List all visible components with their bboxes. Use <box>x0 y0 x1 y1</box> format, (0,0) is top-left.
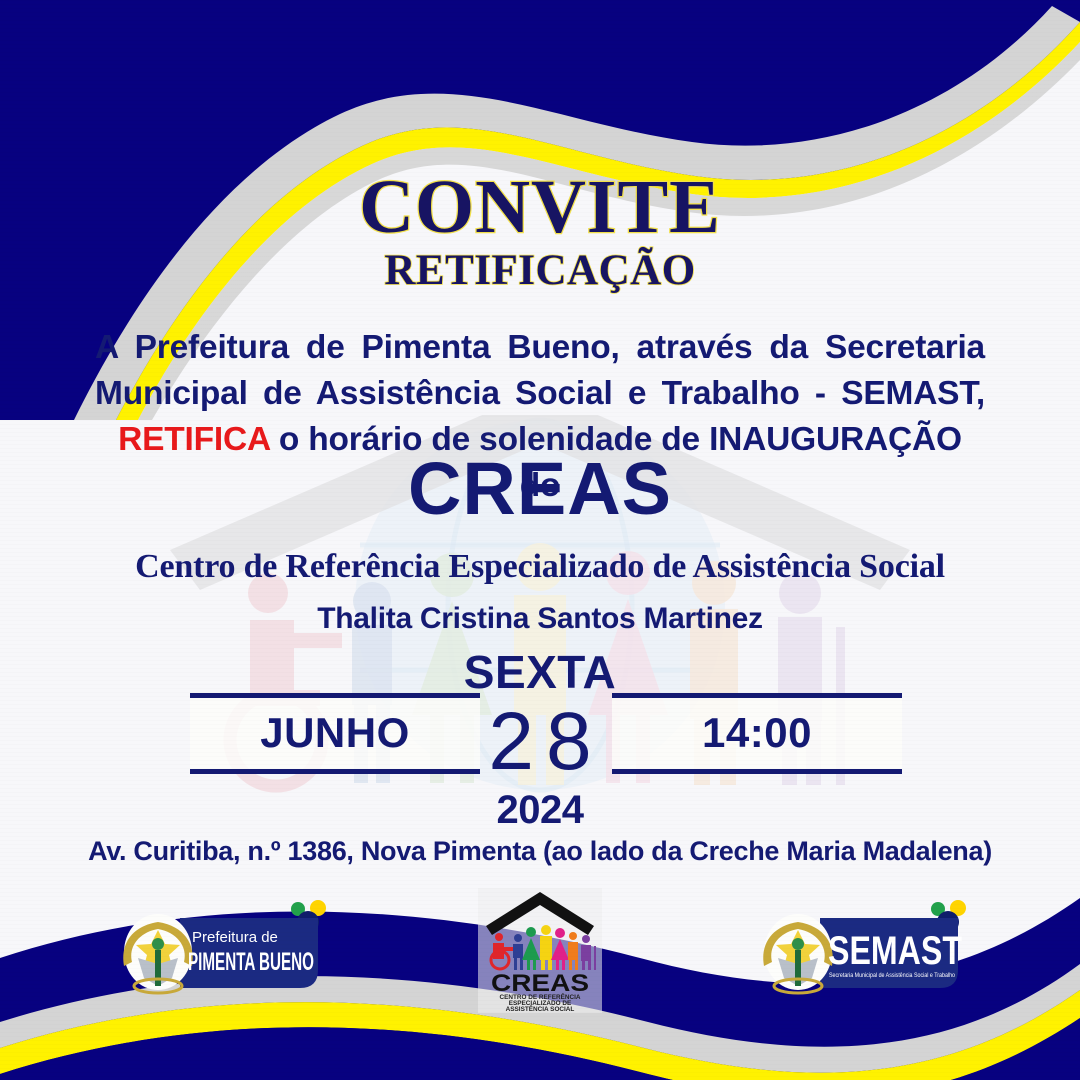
event-time: 14:00 <box>612 698 902 769</box>
title-block: CONVITE RETIFICAÇÃO <box>0 170 1080 294</box>
time-rule-bottom <box>612 769 902 774</box>
institution-full-name: Centro de Referência Especializado de As… <box>0 548 1080 586</box>
logo-prefeitura-pimenta-bueno: Prefeitura de PIMENTA BUENO <box>122 900 337 1000</box>
event-day: 28 <box>0 697 1080 787</box>
event-month: JUNHO <box>190 698 480 769</box>
event-time-slot: 14:00 <box>612 693 902 774</box>
event-year: 2024 <box>0 788 1080 833</box>
logo-creas-acronym: CREAS <box>491 970 589 997</box>
page-title: CONVITE <box>0 170 1080 244</box>
event-month-slot: JUNHO <box>190 693 480 774</box>
logo-creas-caption3: ASSISTÊNCIA SOCIAL <box>506 1004 575 1013</box>
logo-semast-line2: Secretaria Municipal de Assistência Soci… <box>829 972 955 979</box>
logo-semast-line1: SEMAST <box>828 929 962 973</box>
announcement-line-1: A Prefeitura de Pimenta Bueno, através d… <box>95 325 985 371</box>
institution-acronym: CREAS <box>0 452 1080 526</box>
event-date-block: SEXTA 28 2024 JUNHO 14:00 <box>0 645 1080 835</box>
announcement-line-2: Municipal de Assistência Social e Trabal… <box>95 371 985 417</box>
poster-content: CONVITE RETIFICAÇÃO A Prefeitura de Pime… <box>0 0 1080 1080</box>
logo-semast: SEMAST Secretaria Municipal de Assistênc… <box>762 900 977 1000</box>
page-subtitle: RETIFICAÇÃO <box>0 248 1080 293</box>
logo-prefeitura-line2: PIMENTA BUENO <box>188 948 314 976</box>
month-rule-bottom <box>190 769 480 774</box>
institution-person-name: Thalita Cristina Santos Martinez <box>0 602 1080 636</box>
logo-row: Prefeitura de PIMENTA BUENO <box>0 888 1080 1018</box>
event-address: Av. Curitiba, n.º 1386, Nova Pimenta (ao… <box>0 836 1080 867</box>
invitation-poster: CONVITE RETIFICAÇÃO A Prefeitura de Pime… <box>0 0 1080 1080</box>
logo-prefeitura-line1: Prefeitura de <box>192 929 278 946</box>
logo-creas: CREAS CENTRO DE REFERÊNCIA ESPECIALIZADO… <box>478 888 602 1013</box>
event-weekday: SEXTA <box>0 645 1080 699</box>
